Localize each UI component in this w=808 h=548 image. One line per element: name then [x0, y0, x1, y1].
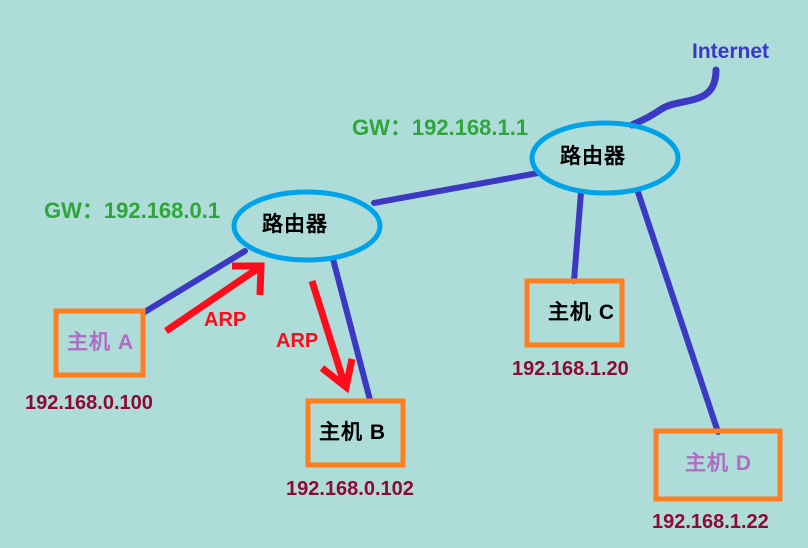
host-b-ip-label: 192.168.0.102 [286, 479, 414, 499]
internet-label: Internet [692, 41, 769, 62]
arp-request-label: ARP [204, 310, 246, 330]
gateway-label-router-right: GW：192.168.1.1 [352, 117, 528, 139]
link-router-right-to-host-d [638, 192, 718, 432]
host-a-label: 主机 A [67, 332, 134, 353]
network-diagram: Internet GW：192.168.1.1 GW：192.168.0.1 路… [0, 0, 808, 548]
router-left-label: 路由器 [262, 214, 328, 235]
host-c-label: 主机 C [548, 302, 615, 323]
gateway-label-router-left: GW：192.168.0.1 [44, 200, 220, 222]
host-d-ip-label: 192.168.1.22 [652, 512, 769, 532]
internet-link-curve [632, 70, 716, 125]
link-host-a-to-router-left [143, 251, 245, 313]
host-a-ip-label: 192.168.0.100 [25, 393, 153, 413]
link-router-left-to-router-right [374, 173, 538, 203]
link-router-right-to-host-c [574, 192, 581, 281]
host-b-label: 主机 B [319, 422, 386, 443]
arp-forward-label: ARP [276, 331, 318, 351]
router-right-label: 路由器 [560, 146, 626, 167]
host-c-ip-label: 192.168.1.20 [512, 359, 629, 379]
host-d-label: 主机 D [685, 453, 752, 474]
